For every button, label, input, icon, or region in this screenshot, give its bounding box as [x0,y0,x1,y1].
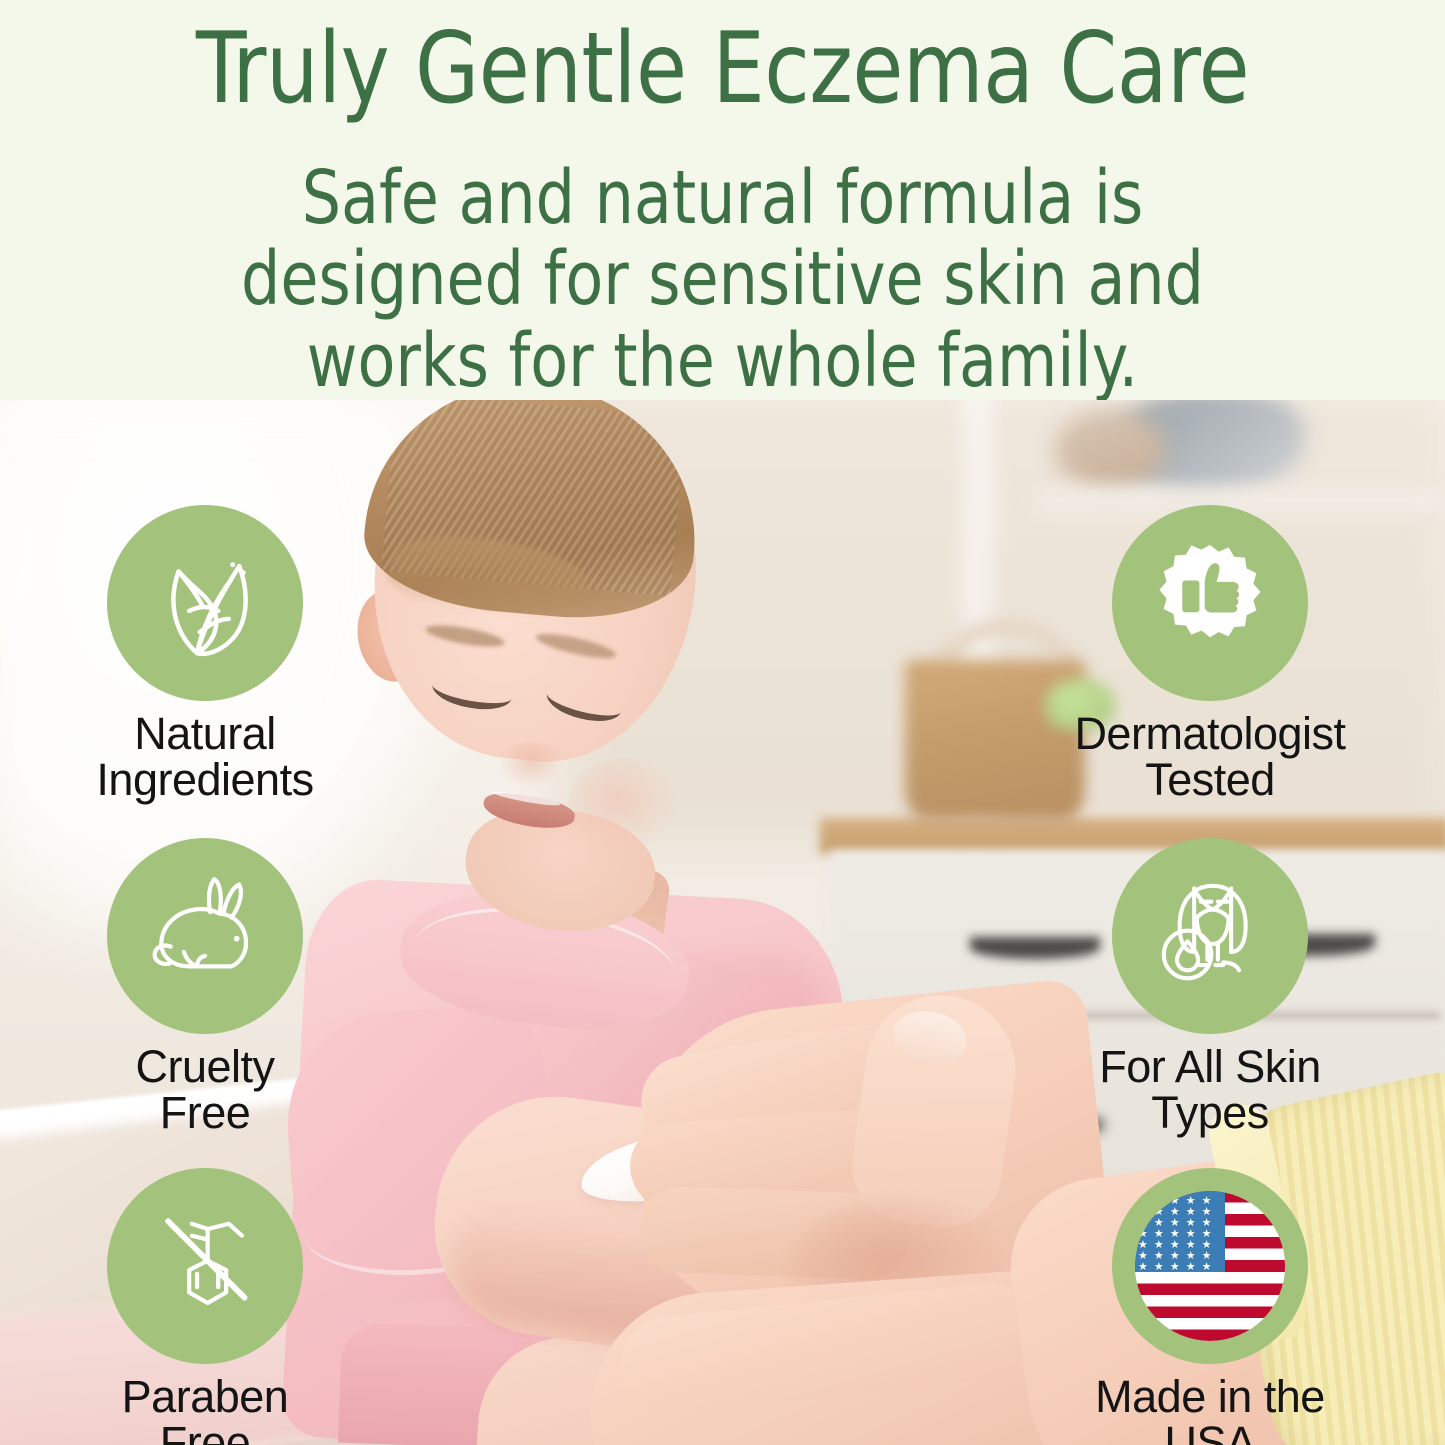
badge-for-all-skin-types: For All Skin Types [1072,838,1348,1137]
badge-label-line: Dermatologist [1072,711,1348,757]
header-band: Truly Gentle Eczema Care Safe and natura… [0,0,1445,400]
no-molecule-icon [139,1200,271,1332]
badge-dermatologist-tested: Dermatologist Tested [1072,505,1348,804]
badge-circle: ★ ★ ★ ★ ★ ★ ★ ★ ★ ★ ★ ★ ★ ★ ★ ★ ★ ★ ★ ★ … [1112,1168,1308,1364]
badge-circle [107,838,303,1034]
badge-label-line: Paraben [67,1374,343,1420]
leaf-icon [139,537,271,669]
badge-label-line: Free [67,1090,343,1136]
baby-cheek [568,758,678,850]
subtitle-line-2: designed for sensitive skin and [51,239,1395,320]
background-shelf-object-b [1055,410,1165,490]
badge-circle [1112,505,1308,701]
page-title: Truly Gentle Eczema Care [43,18,1401,122]
usa-flag-icon: ★ ★ ★ ★ ★ ★ ★ ★ ★ ★ ★ ★ ★ ★ ★ ★ ★ ★ ★ ★ … [1135,1191,1285,1341]
subtitle-line-3: works for the whole family. [51,321,1395,400]
badge-circle [1112,838,1308,1034]
badge-label-line: Tested [1072,757,1348,803]
badge-cruelty-free: Cruelty Free [67,838,343,1137]
badge-paraben-free: Paraben Free [67,1168,343,1445]
face-droplet-icon [1144,870,1276,1002]
badge-label-line: Types [1072,1090,1348,1136]
badge-circle [107,505,303,701]
badge-label-line: Ingredients [67,757,343,803]
badge-label: Made in the USA [1072,1374,1348,1445]
badge-label-line: For All Skin [1072,1044,1348,1090]
badge-label: For All Skin Types [1072,1044,1348,1137]
badge-label-line: Made in the [1072,1374,1348,1420]
badge-label-line: Natural [67,711,343,757]
badge-label-line: Cruelty [67,1044,343,1090]
badge-circle [107,1168,303,1364]
badge-label: Dermatologist Tested [1072,711,1348,804]
badge-label-line: USA [1072,1420,1348,1445]
product-infographic: Truly Gentle Eczema Care Safe and natura… [0,0,1445,1445]
badge-label: Natural Ingredients [67,711,343,804]
badge-made-in-usa: ★ ★ ★ ★ ★ ★ ★ ★ ★ ★ ★ ★ ★ ★ ★ ★ ★ ★ ★ ★ … [1072,1168,1348,1445]
page-subtitle: Safe and natural formula is designed for… [51,158,1395,400]
baby-nose [498,742,564,788]
badge-natural-ingredients: Natural Ingredients [67,505,343,804]
badge-label: Paraben Free [67,1374,343,1445]
thumbs-up-seal-icon [1144,537,1276,669]
flag-stars: ★ ★ ★ ★ ★ ★ ★ ★ ★ ★ ★ ★ ★ ★ ★ ★ ★ ★ ★ ★ … [1135,1191,1225,1272]
badge-label-line: Free [67,1420,343,1445]
rabbit-icon [139,870,271,1002]
badge-label: Cruelty Free [67,1044,343,1137]
subtitle-line-1: Safe and natural formula is [51,158,1395,239]
